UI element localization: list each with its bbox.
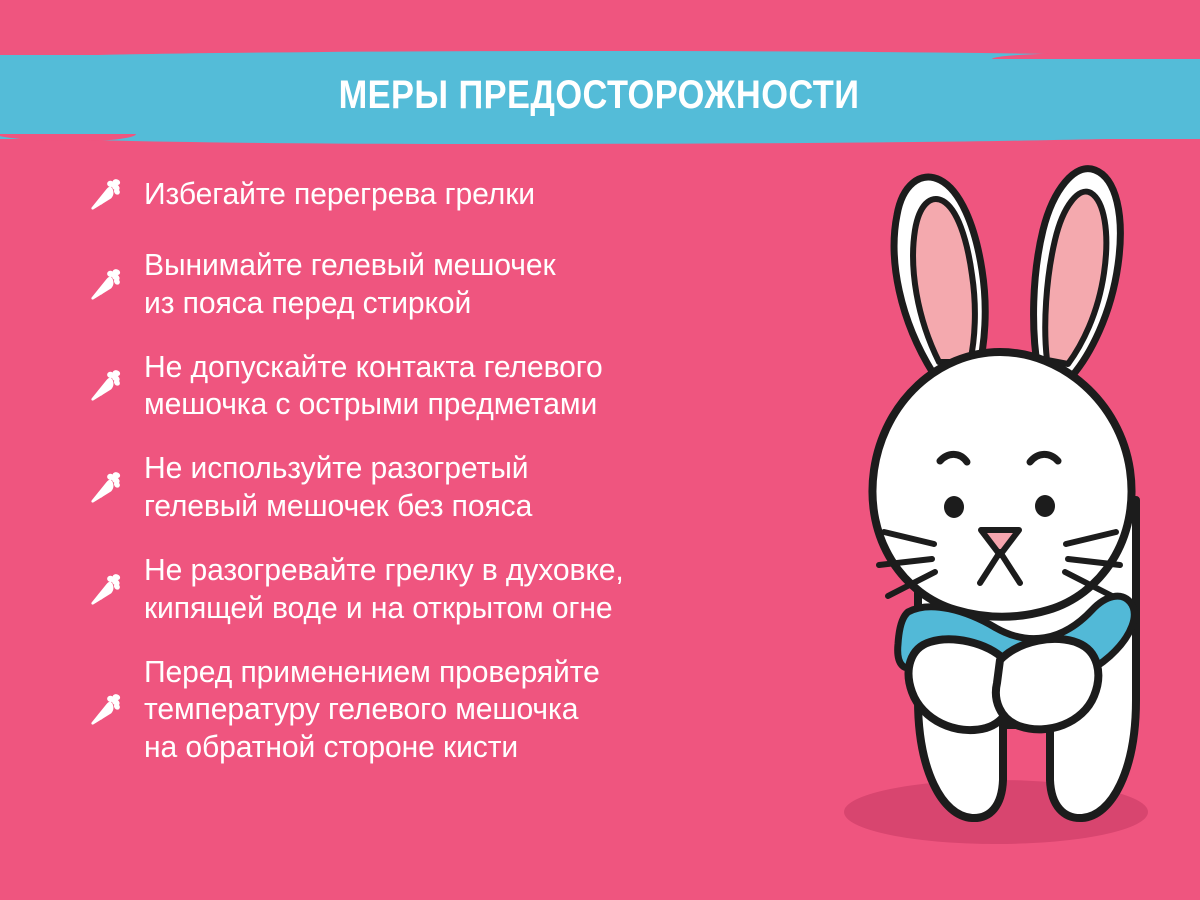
- precautions-list: Избегайте перегрева грелки: [88, 168, 768, 792]
- title-banner: МЕРЫ ПРЕДОСТОРОЖНОСТИ: [0, 55, 1200, 139]
- banner-edge-right: [992, 53, 1200, 59]
- list-item-label: Перед применением проверяйте температуру…: [144, 653, 600, 766]
- list-item: Не разогревайте грелку в духовке, кипяще…: [88, 551, 768, 627]
- list-item: Перед применением проверяйте температуру…: [88, 653, 768, 766]
- right-eye: [1035, 495, 1055, 517]
- right-ear: [1034, 169, 1121, 376]
- left-ear: [894, 177, 985, 373]
- left-eye: [944, 496, 964, 518]
- list-item: Вынимайте гелевый мешочек из пояса перед…: [88, 246, 768, 322]
- carrot-icon: [84, 260, 126, 308]
- carrot-icon: [84, 463, 126, 511]
- carrot-icon: [84, 685, 126, 733]
- rabbit-arms: [909, 639, 1099, 730]
- page-title: МЕРЫ ПРЕДОСТОРОЖНОСТИ: [80, 66, 1117, 124]
- list-item-label: Не разогревайте грелку в духовке, кипяще…: [144, 551, 624, 627]
- carrot-icon: [84, 565, 126, 613]
- list-item: Не используйте разогретый гелевый мешоче…: [88, 449, 768, 525]
- list-item-label: Не допускайте контакта гелевого мешочка …: [144, 348, 603, 424]
- rabbit-head: [872, 352, 1131, 617]
- list-item: Не допускайте контакта гелевого мешочка …: [88, 348, 768, 424]
- list-item-label: Вынимайте гелевый мешочек из пояса перед…: [144, 246, 556, 322]
- list-item-label: Избегайте перегрева грелки: [144, 175, 535, 213]
- list-item: Избегайте перегрева грелки: [88, 168, 768, 220]
- precautions-poster: МЕРЫ ПРЕДОСТОРОЖНОСТИ: [0, 0, 1200, 900]
- banner-edge-left: [0, 134, 136, 141]
- carrot-icon: [84, 170, 126, 218]
- list-item-label: Не используйте разогретый гелевый мешоче…: [144, 449, 532, 525]
- rabbit-mascot: [800, 140, 1200, 880]
- carrot-icon: [84, 362, 126, 410]
